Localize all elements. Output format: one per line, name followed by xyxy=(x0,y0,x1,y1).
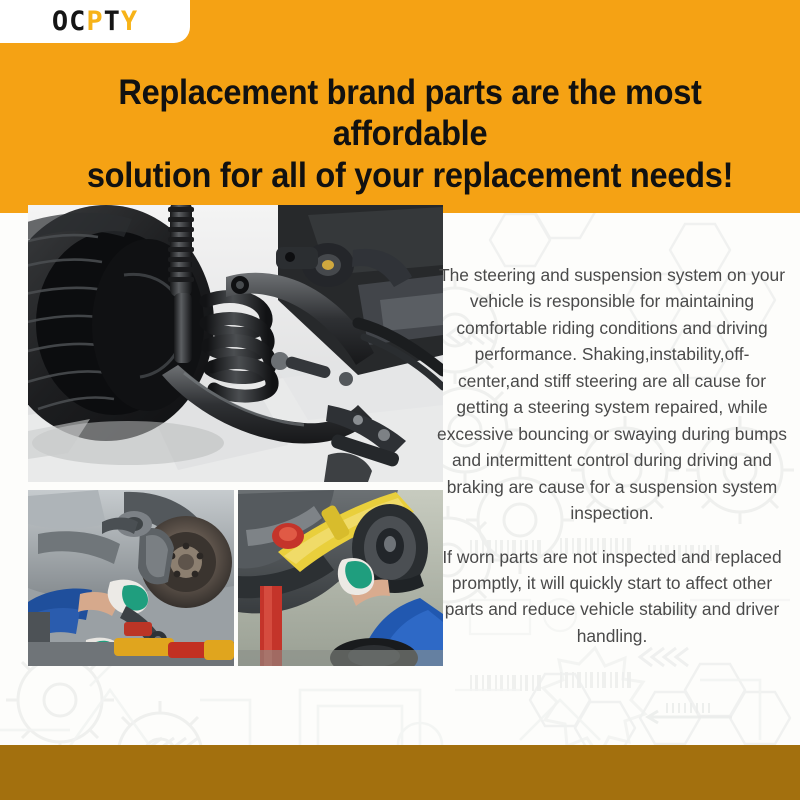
headline-line-2: solution for all of your replacement nee… xyxy=(66,155,754,196)
headline: Replacement brand parts are the most aff… xyxy=(66,72,754,196)
logo-segment-t: T xyxy=(104,6,121,37)
body-copy: The steering and suspension system on yo… xyxy=(437,262,787,649)
brand-logo-text: OCPTY xyxy=(52,8,138,35)
header-banner: OCPTY Replacement brand parts are the mo… xyxy=(0,0,800,213)
body-paragraph-1: The steering and suspension system on yo… xyxy=(437,262,787,527)
mechanic-brake-service-photo xyxy=(28,490,234,666)
main-suspension-photo xyxy=(28,205,443,482)
mechanic-under-lift-photo xyxy=(238,490,443,666)
logo-segment-y: Y xyxy=(121,6,138,37)
brand-logo-plate[interactable]: OCPTY xyxy=(0,0,190,43)
logo-segment-p: P xyxy=(86,6,103,37)
body-paragraph-2: If worn parts are not inspected and repl… xyxy=(437,544,787,650)
product-info-poster: OCPTY Replacement brand parts are the mo… xyxy=(0,0,800,800)
footer-band xyxy=(0,745,800,800)
headline-line-1: Replacement brand parts are the most aff… xyxy=(118,73,701,153)
logo-segment-oc: OC xyxy=(52,6,87,37)
